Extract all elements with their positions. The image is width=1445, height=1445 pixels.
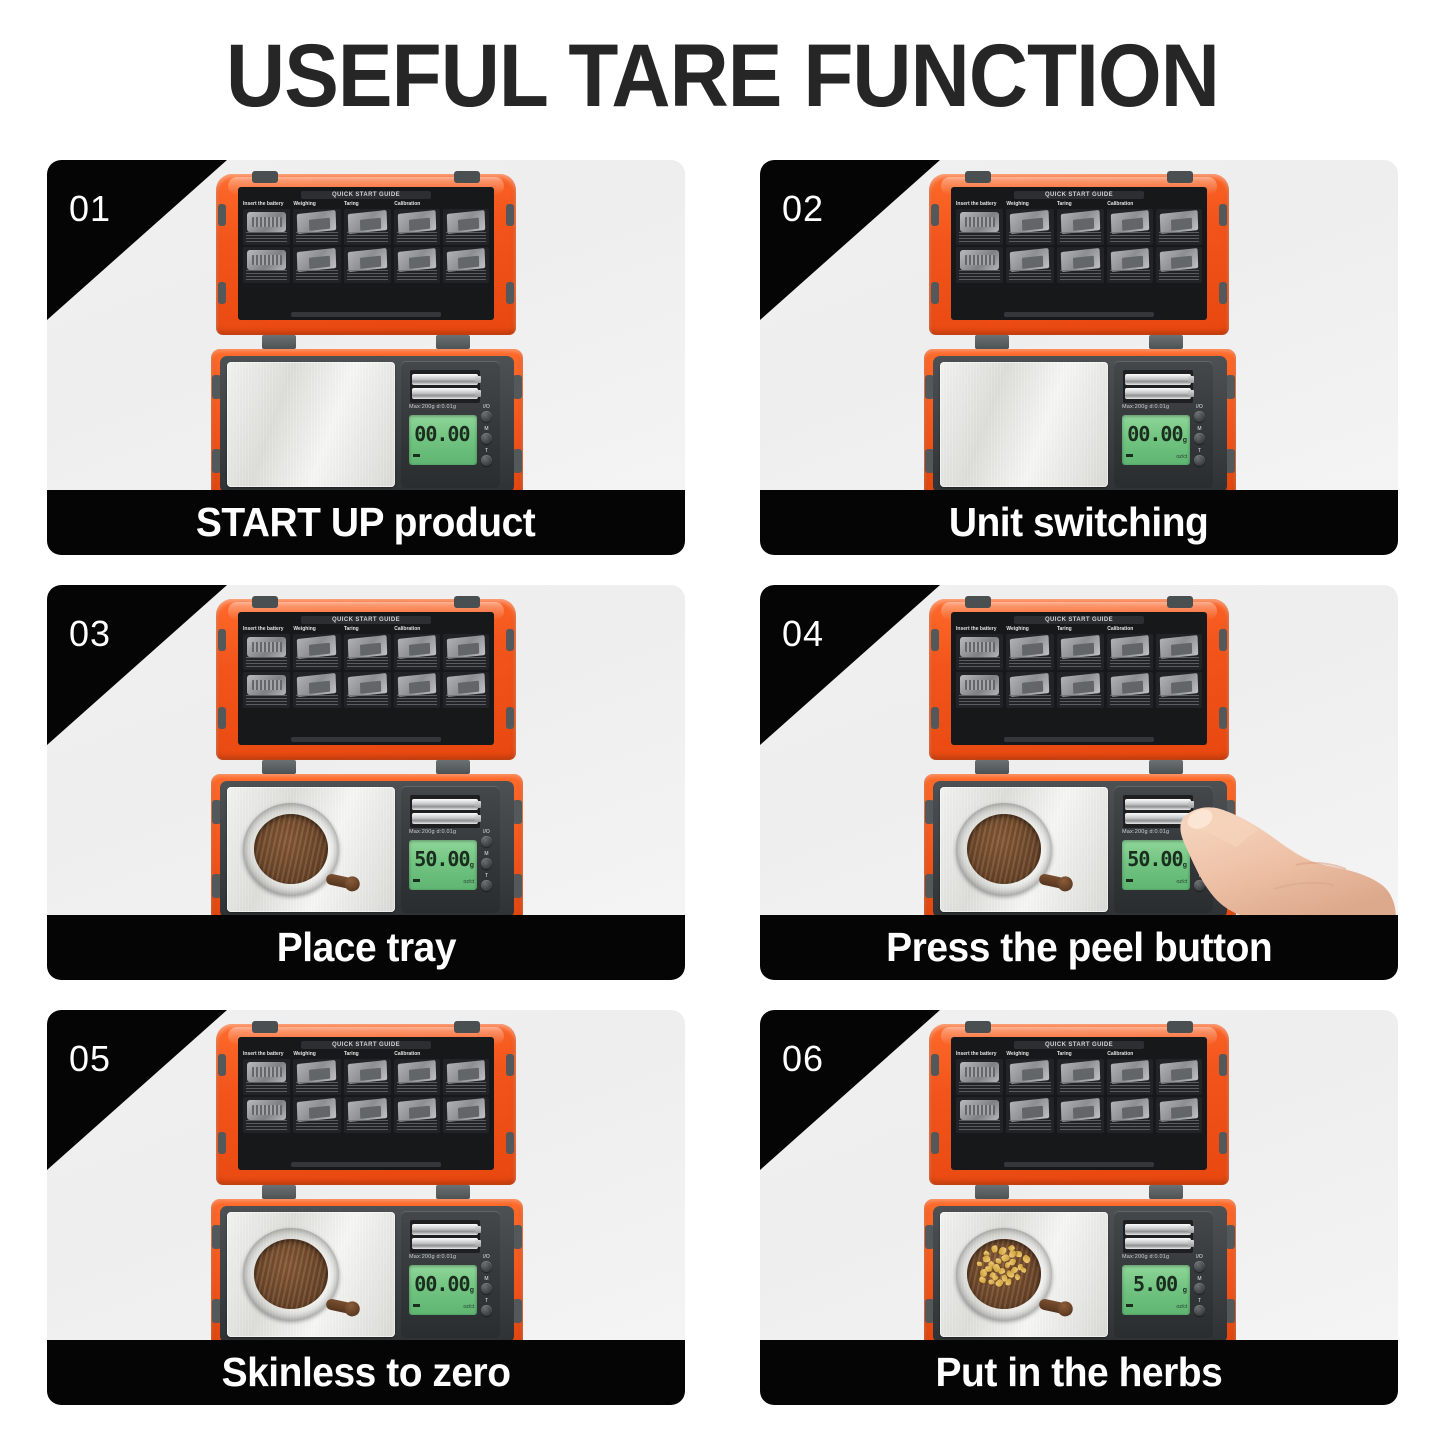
guide-column-header: Calibration: [394, 1051, 489, 1057]
scale-button-m[interactable]: M: [1194, 1277, 1205, 1294]
tray-handle: [1038, 873, 1070, 890]
scale-button-dot[interactable]: [481, 411, 492, 422]
scale-button-m[interactable]: M: [481, 1277, 492, 1294]
guide-column-header: Weighing: [293, 201, 340, 207]
guide-row-top: [1057, 209, 1104, 247]
guide-row-top: [243, 209, 290, 247]
guide-step-text: [246, 657, 287, 668]
tray-disc: [243, 803, 339, 895]
base-pad: [1226, 874, 1235, 898]
capacity-label: Max:200g d:0.01g: [1122, 404, 1169, 410]
scale-lid: QUICK START GUIDEInsert the batteryWeigh…: [929, 599, 1229, 760]
pocket-scale: QUICK START GUIDEInsert the batteryWeigh…: [924, 174, 1234, 490]
wooden-tray: [243, 1228, 347, 1324]
guide-row-bottom: [1006, 247, 1053, 285]
scale-button-dot[interactable]: [1194, 858, 1205, 869]
guide-step-text: [446, 695, 486, 706]
herb-particle: [1014, 1273, 1022, 1281]
pocket-scale: QUICK START GUIDEInsert the batteryWeigh…: [924, 599, 1234, 915]
guide-row-top: [1006, 1059, 1053, 1097]
guide-step-illustration: [297, 248, 337, 272]
battery-cell: [1125, 388, 1191, 399]
guide-step-illustration: [247, 1100, 286, 1120]
hinge: [436, 760, 470, 774]
pocket-scale: QUICK START GUIDEInsert the batteryWeigh…: [211, 1024, 521, 1340]
scale-buttons: I/OMT: [477, 830, 496, 891]
guide-step-text: [296, 270, 337, 281]
guide-step-illustration: [348, 635, 388, 659]
scale-button-dot[interactable]: [481, 433, 492, 444]
guide-step-cell: [344, 634, 391, 670]
guide-step-cell: [394, 247, 440, 283]
steps-grid: QUICK START GUIDEInsert the batteryWeigh…: [47, 160, 1398, 1405]
guide-row-top: [956, 1059, 1003, 1097]
guide-row-top: [1107, 634, 1202, 672]
lid-clasp-left: [252, 1021, 278, 1033]
weighing-platform: [227, 1212, 395, 1337]
guide-step-cell: [344, 1097, 391, 1133]
scale-buttons: I/OMT: [477, 1255, 496, 1316]
guide-step-cell: [394, 209, 440, 245]
guide-column-header: Taring: [1057, 201, 1104, 207]
battery-cell: [412, 1238, 478, 1249]
quick-start-guide-title: QUICK START GUIDE: [1014, 191, 1144, 199]
scale-inner-body: Max:200g d:0.01g00.00I/OMT: [220, 356, 514, 490]
scale-inner-body: Max:200g d:0.01g00.00goz/ctI/OMT: [933, 356, 1227, 490]
guide-step-text: [296, 1120, 337, 1131]
pocket-scale: QUICK START GUIDEInsert the batteryWeigh…: [924, 1024, 1234, 1340]
guide-step-illustration: [398, 1098, 436, 1122]
guide-step-cell: [394, 634, 440, 670]
guide-step-text: [1009, 695, 1050, 706]
step-number-badge: 03: [47, 585, 227, 745]
step-number-badge: 02: [760, 160, 940, 320]
guide-step-text: [397, 232, 437, 243]
scale-base: Max:200g d:0.01g00.00goz/ctI/OMT: [211, 1199, 523, 1340]
guide-step-cell: [344, 209, 391, 245]
guide-row-top: [293, 1059, 340, 1097]
guide-step-illustration: [398, 673, 436, 697]
hinge: [1149, 1185, 1183, 1199]
lid-clasp-left: [965, 596, 991, 608]
scale-button-dot[interactable]: [481, 836, 492, 847]
battery-cell: [412, 799, 478, 810]
wooden-tray: [243, 803, 347, 899]
battery-compartment: [1123, 370, 1193, 403]
guide-row-bottom: [293, 1097, 340, 1135]
page-title: USEFUL TARE FUNCTION: [58, 24, 1387, 126]
guide-column-header: Weighing: [1006, 1051, 1053, 1057]
guide-step-cell: [956, 672, 1003, 708]
hinge: [262, 1185, 296, 1199]
base-pad: [513, 874, 522, 898]
guide-row-bottom: [394, 672, 489, 710]
scale-button-dot[interactable]: [481, 1261, 492, 1272]
guide-step-cell: [394, 1059, 440, 1095]
guide-step-text: [347, 1082, 388, 1093]
lcd-value: 5.00: [1133, 1274, 1177, 1294]
lcd-unit-secondary: oz/ct: [463, 1304, 474, 1310]
hinge: [436, 1185, 470, 1199]
guide-column-header: Weighing: [293, 626, 340, 632]
guide-step-cell: [1156, 1059, 1202, 1095]
guide-step-text: [347, 1120, 388, 1131]
quick-start-guide-title: QUICK START GUIDE: [301, 616, 431, 624]
guide-step-cell: [394, 672, 440, 708]
guide-step-text: [296, 657, 337, 668]
scale-lid: QUICK START GUIDEInsert the batteryWeigh…: [216, 1024, 516, 1185]
scale-button-dot[interactable]: [1194, 1305, 1205, 1316]
guide-step-cell: [443, 1097, 489, 1133]
lid-pad: [1219, 204, 1227, 226]
guide-column: Calibration: [394, 1051, 489, 1135]
guide-step-text: [1110, 270, 1150, 281]
scale-base: Max:200g d:0.01g50.00goz/ctI/OMT: [924, 774, 1236, 915]
lid-pad: [1219, 1054, 1227, 1076]
guide-step-cell: [956, 634, 1003, 670]
guide-column-header: Insert the battery: [956, 626, 1003, 632]
scale-base: Max:200g d:0.01g50.00goz/ctI/OMT: [211, 774, 523, 915]
step-number: 03: [69, 613, 111, 655]
guide-row-top: [293, 634, 340, 672]
scale-buttons: I/OMT: [1190, 405, 1209, 466]
wooden-tray: [956, 803, 1060, 899]
capacity-label: Max:200g d:0.01g: [1122, 1254, 1169, 1260]
guide-step-illustration: [1061, 1060, 1101, 1084]
scale-button-dot[interactable]: [481, 1283, 492, 1294]
lcd-display: 5.00goz/ct: [1122, 1265, 1190, 1315]
guide-row-top: [1006, 634, 1053, 672]
battery-compartment: [410, 370, 480, 403]
scale-lid: QUICK START GUIDEInsert the batteryWeigh…: [929, 174, 1229, 335]
scale-button-dot[interactable]: [1194, 411, 1205, 422]
step-number-badge: 01: [47, 160, 227, 320]
scale-button-i-o[interactable]: I/O: [1194, 405, 1205, 422]
scale-button-label: I/O: [1194, 1255, 1205, 1260]
scale-button-t[interactable]: T: [1194, 449, 1205, 466]
guide-row-bottom: [344, 247, 391, 285]
scale-button-dot[interactable]: [481, 858, 492, 869]
scale-button-label: M: [1194, 852, 1205, 857]
guide-row-top: [1057, 1059, 1104, 1097]
weighing-platform: [940, 1212, 1108, 1337]
electronics-module: Max:200g d:0.01g00.00goz/ctI/OMT: [401, 1211, 500, 1338]
step-panel: QUICK START GUIDEInsert the batteryWeigh…: [760, 585, 1398, 980]
guide-step-illustration: [447, 635, 485, 659]
scale-button-label: I/O: [1194, 830, 1205, 835]
guide-step-illustration: [348, 1060, 388, 1084]
lcd-display: 50.00goz/ct: [409, 840, 477, 890]
guide-row-bottom: [243, 247, 290, 285]
guide-step-text: [1159, 1082, 1199, 1093]
guide-step-illustration: [1010, 673, 1050, 697]
scale-button-i-o[interactable]: I/O: [481, 405, 492, 422]
guide-step-illustration: [297, 210, 337, 234]
guide-column: Taring: [1057, 1051, 1104, 1135]
guide-step-text: [446, 1120, 486, 1131]
scale-button-t[interactable]: T: [1194, 1299, 1205, 1316]
guide-step-illustration: [447, 673, 485, 697]
step-caption-text: Unit switching: [949, 499, 1208, 546]
scale-button-label: M: [1194, 427, 1205, 432]
scale-button-dot[interactable]: [1194, 836, 1205, 847]
scale-button-m[interactable]: M: [481, 852, 492, 869]
scale-button-label: I/O: [1194, 405, 1205, 410]
herb-particle: [1020, 1267, 1027, 1274]
base-pad: [513, 1299, 522, 1323]
step-number-badge: 05: [47, 1010, 227, 1170]
guide-step-cell: [243, 209, 290, 245]
guide-step-illustration: [348, 248, 388, 272]
guide-step-illustration: [348, 210, 388, 234]
guide-column-header: Insert the battery: [243, 626, 290, 632]
scale-button-m[interactable]: M: [1194, 852, 1205, 869]
step-panel: QUICK START GUIDEInsert the batteryWeigh…: [760, 160, 1398, 555]
scale-button-m[interactable]: M: [1194, 427, 1205, 444]
badge-triangle: [47, 1010, 227, 1170]
lcd-display: 50.00goz/ct: [1122, 840, 1190, 890]
guide-step-text: [1009, 270, 1050, 281]
quick-start-guide-label: QUICK START GUIDEInsert the batteryWeigh…: [951, 1037, 1207, 1170]
herb-particle: [1015, 1250, 1022, 1257]
hinge: [262, 335, 296, 349]
scale-button-dot[interactable]: [1194, 880, 1205, 891]
hinge: [975, 760, 1009, 774]
guide-columns: Insert the batteryWeighingTaringCalibrat…: [951, 626, 1207, 710]
scale-button-label: M: [481, 1277, 492, 1282]
guide-row-top: [956, 634, 1003, 672]
scale-button-dot[interactable]: [1194, 1261, 1205, 1272]
scale-button-m[interactable]: M: [481, 427, 492, 444]
guide-column: Weighing: [1006, 626, 1053, 710]
quick-start-guide-title: QUICK START GUIDE: [301, 1041, 431, 1049]
lcd-value: 00.00: [414, 1274, 469, 1294]
electronics-module: Max:200g d:0.01g50.00goz/ctI/OMT: [401, 786, 500, 913]
guide-step-cell: [1057, 1097, 1104, 1133]
guide-step-text: [959, 695, 1000, 706]
herb-particle: [1021, 1254, 1031, 1264]
guide-step-text: [1060, 657, 1101, 668]
quick-start-guide-label: QUICK START GUIDEInsert the batteryWeigh…: [238, 1037, 494, 1170]
guide-row-bottom: [243, 672, 290, 710]
guide-step-cell: [344, 247, 391, 283]
guide-step-cell: [1107, 209, 1153, 245]
guide-step-illustration: [1160, 673, 1198, 697]
guide-column-header: Weighing: [293, 1051, 340, 1057]
scale-buttons: I/OMT: [1190, 1255, 1209, 1316]
guide-column-header: Weighing: [1006, 626, 1053, 632]
guide-row-bottom: [394, 247, 489, 285]
step-image: QUICK START GUIDEInsert the batteryWeigh…: [760, 585, 1398, 915]
hinge: [262, 760, 296, 774]
capacity-label: Max:200g d:0.01g: [1122, 829, 1169, 835]
guide-step-illustration: [1010, 1060, 1050, 1084]
guide-row-bottom: [1107, 1097, 1202, 1135]
lid-hinges: [216, 760, 516, 774]
scale-button-i-o[interactable]: I/O: [1194, 1255, 1205, 1272]
quick-start-guide-label: QUICK START GUIDEInsert the batteryWeigh…: [238, 187, 494, 320]
scale-button-dot[interactable]: [1194, 433, 1205, 444]
weighing-platform: [227, 362, 395, 487]
step-number: 02: [782, 188, 824, 230]
lid-pad: [1219, 1132, 1227, 1154]
guide-footnote: [291, 1162, 441, 1167]
step-number: 05: [69, 1038, 111, 1080]
guide-row-bottom: [1006, 1097, 1053, 1135]
guide-step-text: [347, 657, 388, 668]
guide-row-bottom: [293, 247, 340, 285]
guide-step-illustration: [1111, 673, 1149, 697]
step-caption: Place tray: [47, 915, 685, 980]
guide-step-cell: [1057, 634, 1104, 670]
scale-button-dot[interactable]: [481, 455, 492, 466]
guide-step-cell: [956, 1097, 1003, 1133]
guide-column-header: Weighing: [1006, 201, 1053, 207]
guide-step-cell: [956, 1059, 1003, 1095]
base-pad: [513, 1225, 522, 1249]
step-panel: QUICK START GUIDEInsert the batteryWeigh…: [47, 160, 685, 555]
guide-row-bottom: [1057, 672, 1104, 710]
guide-step-illustration: [1010, 1098, 1050, 1122]
scale-inner-body: Max:200g d:0.01g00.00goz/ctI/OMT: [220, 1206, 514, 1340]
guide-step-cell: [1057, 672, 1104, 708]
guide-row-top: [344, 634, 391, 672]
scale-button-t[interactable]: T: [481, 449, 492, 466]
guide-step-illustration: [247, 1062, 286, 1082]
herb-particle: [990, 1245, 998, 1253]
step-number: 01: [69, 188, 111, 230]
scale-button-dot[interactable]: [481, 1305, 492, 1316]
scale-button-t[interactable]: T: [481, 1299, 492, 1316]
lcd-value: 00.00: [414, 424, 469, 444]
scale-button-i-o[interactable]: I/O: [481, 830, 492, 847]
battery-cell: [412, 388, 478, 399]
battery-cell: [412, 813, 478, 824]
base-pad: [1226, 449, 1235, 473]
guide-step-cell: [293, 1059, 340, 1095]
guide-step-illustration: [398, 248, 436, 272]
battery-compartment: [410, 1220, 480, 1253]
quick-start-guide-label: QUICK START GUIDEInsert the batteryWeigh…: [951, 612, 1207, 745]
guide-column: Insert the battery: [243, 1051, 290, 1135]
lcd-unit: g: [470, 1287, 474, 1294]
scale-button-t[interactable]: T: [1194, 874, 1205, 891]
lid-clasp-left: [965, 1021, 991, 1033]
scale-button-label: I/O: [481, 405, 492, 410]
tray-disc: [956, 803, 1052, 895]
lcd-display: 00.00goz/ct: [409, 1265, 477, 1315]
guide-step-text: [1060, 1082, 1101, 1093]
scale-button-label: T: [1194, 1299, 1205, 1304]
lid-pad: [506, 1132, 514, 1154]
guide-footnote: [1004, 737, 1154, 742]
step-caption-text: Place tray: [276, 924, 455, 971]
guide-step-illustration: [960, 637, 999, 657]
guide-step-illustration: [1160, 210, 1198, 234]
guide-row-top: [344, 1059, 391, 1097]
guide-step-cell: [394, 1097, 440, 1133]
scale-button-t[interactable]: T: [481, 874, 492, 891]
scale-button-dot[interactable]: [1194, 455, 1205, 466]
scale-button-dot[interactable]: [1194, 1283, 1205, 1294]
guide-row-bottom: [1057, 1097, 1104, 1135]
scale-button-label: I/O: [481, 1255, 492, 1260]
guide-step-text: [1060, 1120, 1101, 1131]
scale-button-label: M: [1194, 1277, 1205, 1282]
guide-step-text: [959, 657, 1000, 668]
guide-step-cell: [1107, 1059, 1153, 1095]
guide-column: Taring: [344, 1051, 391, 1135]
guide-row-bottom: [956, 1097, 1003, 1135]
guide-step-text: [1110, 1120, 1150, 1131]
guide-step-text: [347, 695, 388, 706]
guide-row-top: [394, 634, 489, 672]
guide-column: Weighing: [293, 201, 340, 285]
step-image: QUICK START GUIDEInsert the batteryWeigh…: [47, 1010, 685, 1340]
guide-row-top: [1006, 209, 1053, 247]
lcd-minus-indicator: [413, 879, 420, 882]
guide-step-text: [1060, 695, 1101, 706]
guide-step-text: [446, 1082, 486, 1093]
tray-disc: [243, 1228, 339, 1320]
step-caption: Put in the herbs: [760, 1340, 1398, 1405]
battery-cell: [1125, 1238, 1191, 1249]
guide-footnote: [1004, 1162, 1154, 1167]
guide-row-top: [243, 1059, 290, 1097]
base-pad: [1226, 375, 1235, 399]
base-pad: [513, 800, 522, 824]
guide-step-illustration: [398, 1060, 436, 1084]
guide-column: Calibration: [1107, 201, 1202, 285]
step-panel: QUICK START GUIDEInsert the batteryWeigh…: [760, 1010, 1398, 1405]
guide-step-cell: [1057, 209, 1104, 245]
scale-button-dot[interactable]: [481, 880, 492, 891]
guide-column: Weighing: [293, 626, 340, 710]
scale-button-i-o[interactable]: I/O: [481, 1255, 492, 1272]
scale-button-i-o[interactable]: I/O: [1194, 830, 1205, 847]
guide-row-bottom: [344, 672, 391, 710]
lid-pad: [506, 204, 514, 226]
step-image: QUICK START GUIDEInsert the batteryWeigh…: [760, 1010, 1398, 1340]
guide-step-illustration: [247, 212, 286, 232]
guide-column: Calibration: [1107, 626, 1202, 710]
guide-column: Weighing: [1006, 201, 1053, 285]
guide-step-illustration: [1061, 673, 1101, 697]
guide-step-text: [446, 657, 486, 668]
battery-cell: [1125, 813, 1191, 824]
lid-clasp-right: [454, 1021, 480, 1033]
guide-step-cell: [1156, 247, 1202, 283]
guide-step-illustration: [398, 210, 436, 234]
lcd-display: 00.00: [409, 415, 477, 465]
battery-compartment: [1123, 1220, 1193, 1253]
lcd-value: 50.00: [414, 849, 469, 869]
guide-step-text: [959, 270, 1000, 281]
guide-row-top: [344, 209, 391, 247]
guide-row-top: [394, 1059, 489, 1097]
guide-step-cell: [1156, 634, 1202, 670]
hinge: [975, 335, 1009, 349]
guide-column: Insert the battery: [243, 201, 290, 285]
guide-row-bottom: [344, 1097, 391, 1135]
lcd-unit: g: [1183, 437, 1187, 444]
guide-step-cell: [1107, 1097, 1153, 1133]
guide-step-text: [1110, 657, 1150, 668]
lcd-minus-indicator: [1126, 879, 1133, 882]
weighing-platform: [940, 362, 1108, 487]
step-caption-text: Press the peel button: [886, 924, 1272, 971]
guide-step-illustration: [1111, 635, 1149, 659]
